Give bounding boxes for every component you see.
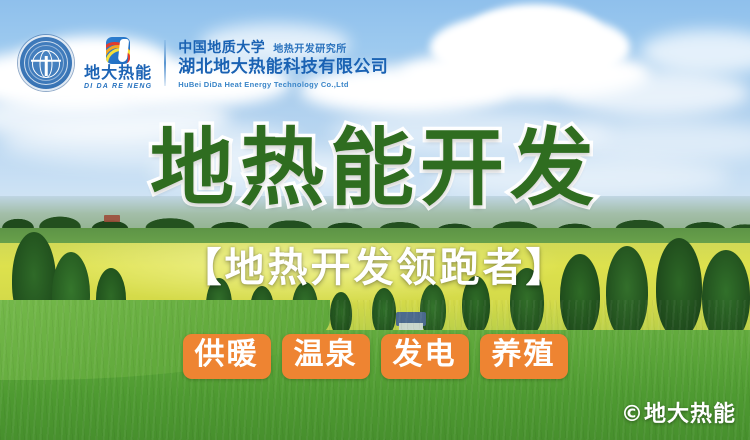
- main-headline: 地热能开发: [0, 126, 750, 210]
- brand-name-en: DI DA RE NENG: [84, 83, 152, 90]
- headline-subtitle: 【地热开发领跑者】: [0, 248, 750, 288]
- service-tag[interactable]: 发电: [381, 334, 469, 379]
- geothermal-promo-banner: 地大热能 DI DA RE NENG 中国地质大学 地热开发研究所 湖北地大热能…: [0, 0, 750, 440]
- company-logomark: 地大热能 DI DA RE NENG: [84, 37, 152, 90]
- company-name-cn: 湖北地大热能科技有限公司: [178, 58, 388, 78]
- institute-name: 地热开发研究所: [273, 40, 347, 55]
- didareneng-logo-icon: [106, 37, 130, 64]
- cloud-shape: [560, 70, 750, 116]
- crest-hammer-stem: [45, 56, 48, 76]
- brand-name-cn: 地大热能: [84, 65, 152, 81]
- university-crest-icon: [18, 35, 74, 91]
- service-tag[interactable]: 温泉: [282, 334, 370, 379]
- brand-header: 地大热能 DI DA RE NENG 中国地质大学 地热开发研究所 湖北地大热能…: [18, 32, 388, 94]
- copyright-watermark: ©地大热能: [621, 396, 736, 428]
- service-tag-list: 供暖 温泉 发电 养殖: [0, 334, 750, 379]
- organization-block: 中国地质大学 地热开发研究所 湖北地大热能科技有限公司 HuBei DiDa H…: [178, 37, 388, 89]
- red-barn: [104, 215, 120, 222]
- organization-line-1: 中国地质大学 地热开发研究所: [178, 37, 388, 57]
- service-tag[interactable]: 养殖: [480, 334, 568, 379]
- service-tag[interactable]: 供暖: [183, 334, 271, 379]
- company-name-en: HuBei DiDa Heat Energy Technology Co.,Lt…: [178, 80, 388, 89]
- header-divider: [164, 40, 166, 86]
- cloud-shape: [640, 30, 750, 74]
- university-name: 中国地质大学: [178, 37, 265, 57]
